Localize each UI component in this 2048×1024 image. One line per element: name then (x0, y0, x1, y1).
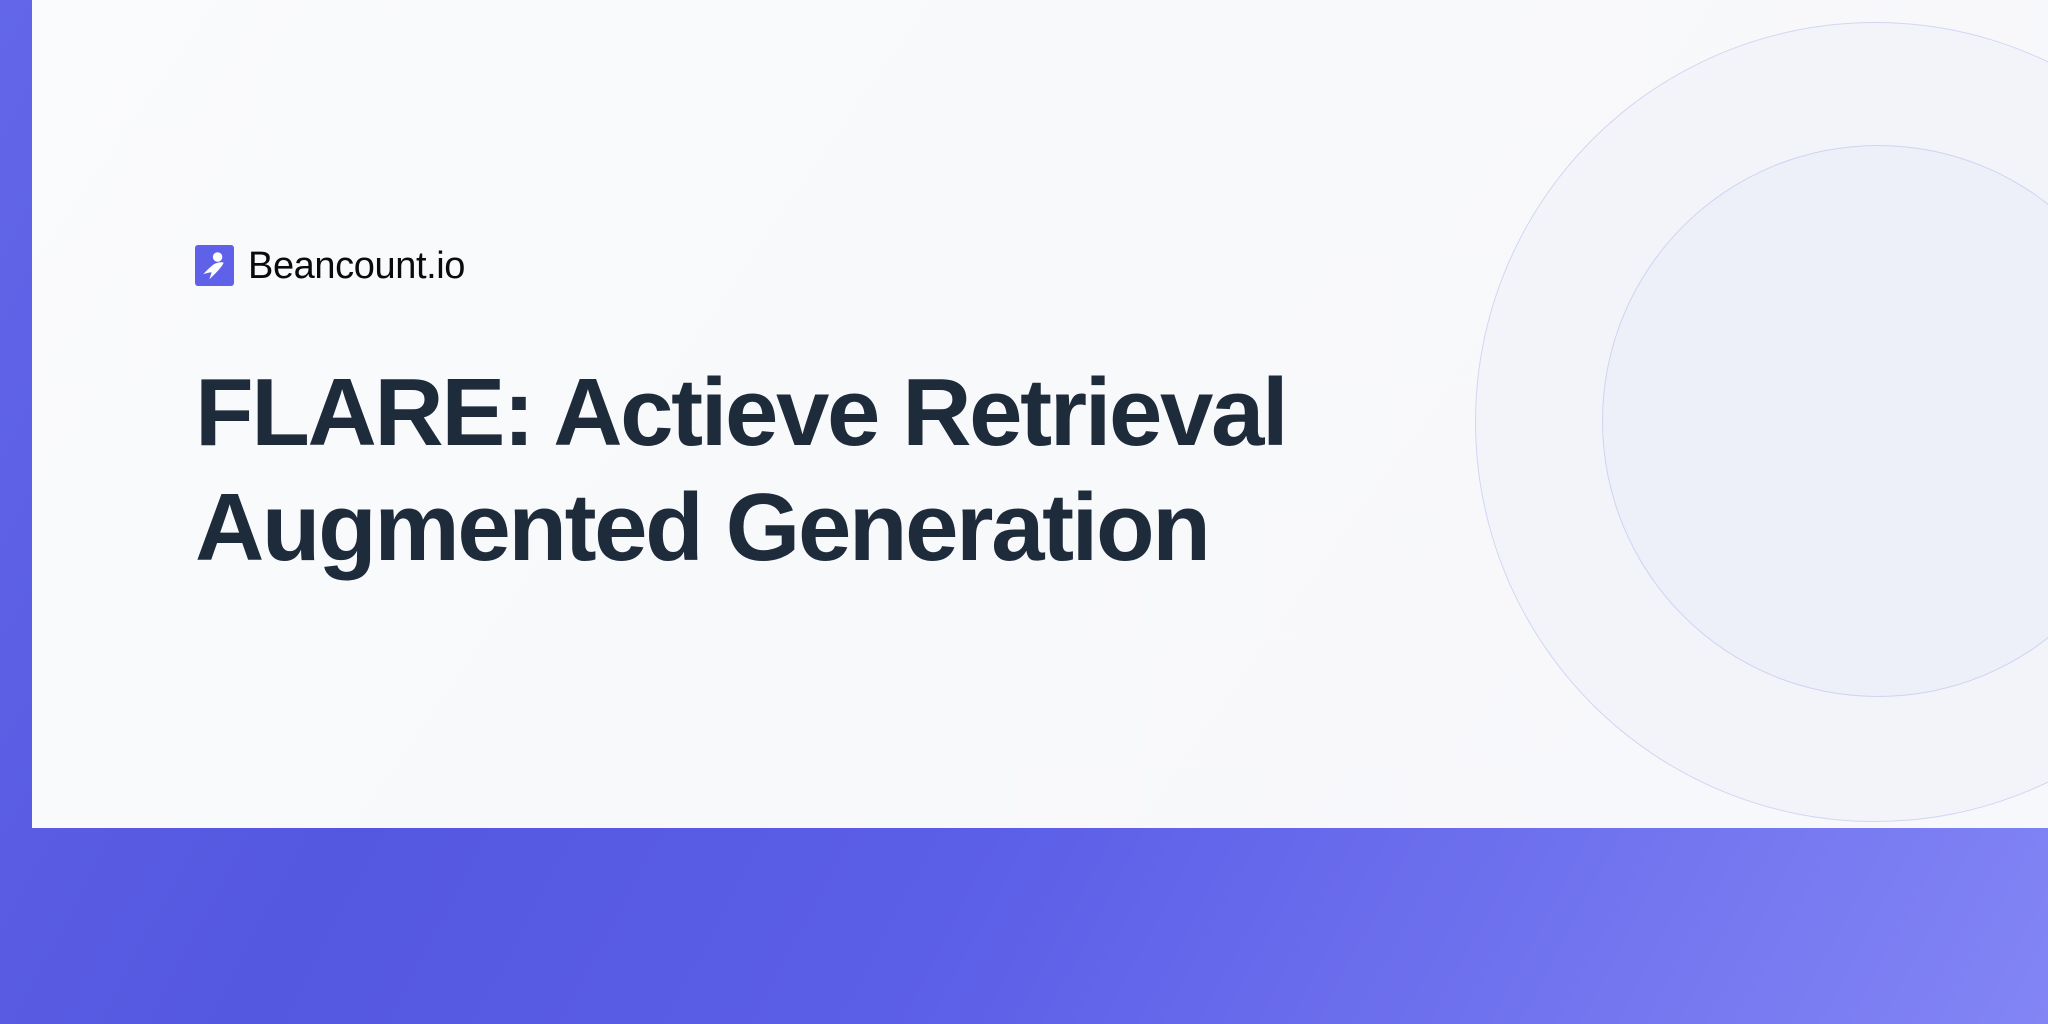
running-figure-icon (195, 245, 234, 286)
page-title-line-2: Augmented Generation (195, 470, 1395, 585)
page-title-line-1: FLARE: Actieve Retrieval (195, 355, 1395, 470)
brand-name: Beancount.io (248, 247, 465, 285)
og-banner: Beancount.io FLARE: Actieve Retrieval Au… (0, 0, 2048, 1024)
page-title: FLARE: Actieve Retrieval Augmented Gener… (195, 355, 1395, 585)
hero-card: Beancount.io FLARE: Actieve Retrieval Au… (32, 0, 2048, 828)
brand-lockup[interactable]: Beancount.io (195, 245, 465, 286)
